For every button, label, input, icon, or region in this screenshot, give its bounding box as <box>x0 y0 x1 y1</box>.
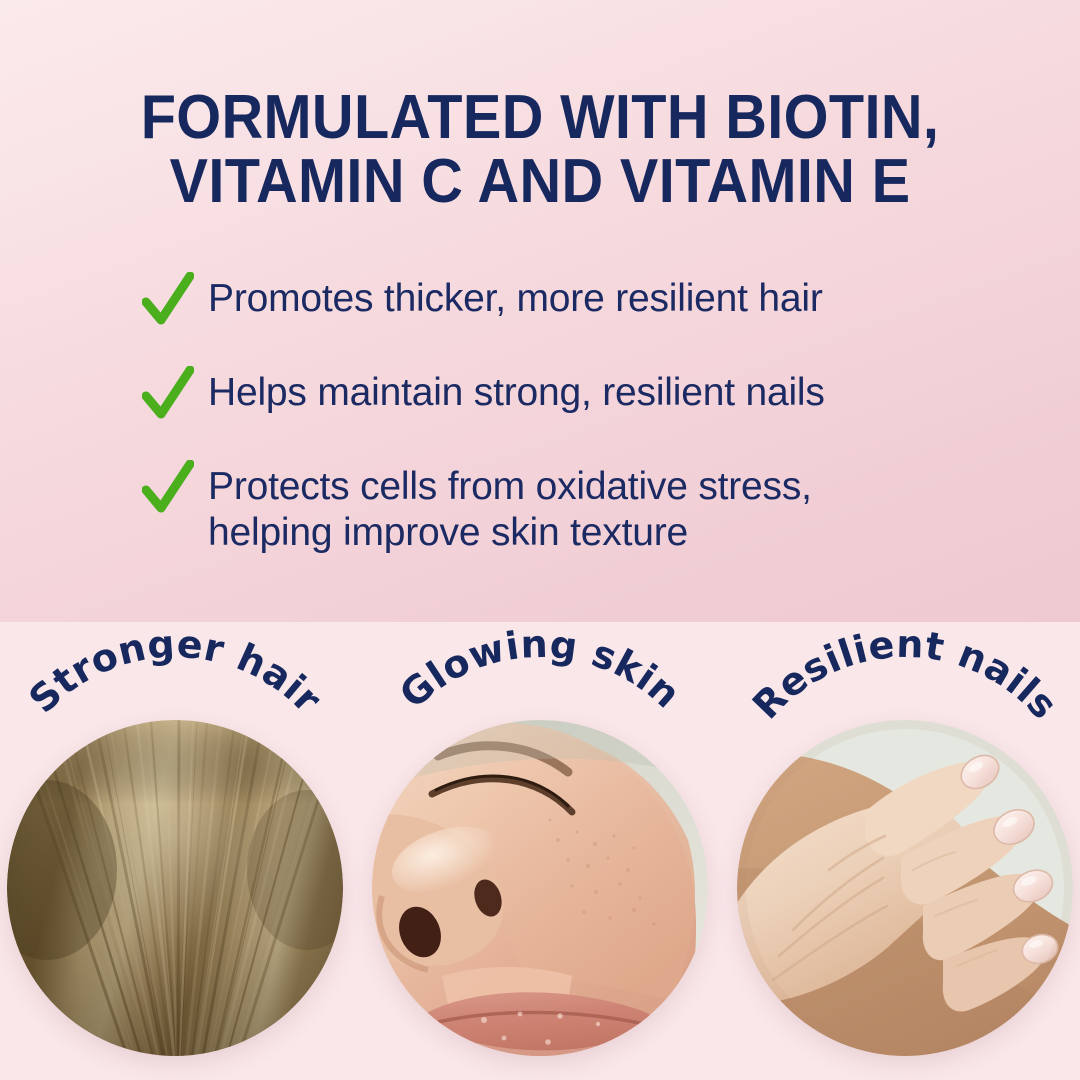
feature-glowing-skin: Glowing skin <box>360 622 720 1080</box>
list-item-label: Promotes thicker, more resilient hair <box>208 276 1022 322</box>
top-panel: FORMULATED WITH BIOTIN, VITAMIN C AND VI… <box>0 0 1080 622</box>
feature-stronger-hair: Stronger hair <box>0 622 355 1080</box>
list-item-label: Protects cells from oxidative stress, he… <box>208 464 1022 556</box>
skin-photo <box>372 720 708 1056</box>
feature-caption: Glowing skin <box>391 628 689 717</box>
feature-caption: Stronger hair <box>20 628 330 722</box>
list-item: Protects cells from oxidative stress, he… <box>142 464 1022 556</box>
check-icon <box>142 366 194 422</box>
page-title: FORMULATED WITH BIOTIN, VITAMIN C AND VI… <box>38 86 1042 214</box>
list-item-label: Helps maintain strong, resilient nails <box>208 370 1022 416</box>
list-item: Promotes thicker, more resilient hair <box>142 276 1022 334</box>
check-icon <box>142 460 194 516</box>
feature-resilient-nails: Resilient nails <box>725 622 1080 1080</box>
feature-caption: Resilient nails <box>744 628 1066 728</box>
check-icon <box>142 272 194 328</box>
benefits-list: Promotes thicker, more resilient hair He… <box>142 276 1022 556</box>
list-item: Helps maintain strong, resilient nails <box>142 370 1022 428</box>
product-benefits-poster: FORMULATED WITH BIOTIN, VITAMIN C AND VI… <box>0 0 1080 1080</box>
nails-photo <box>737 720 1073 1056</box>
bottom-panel: Stronger hair <box>0 622 1080 1080</box>
hair-photo <box>7 720 343 1056</box>
